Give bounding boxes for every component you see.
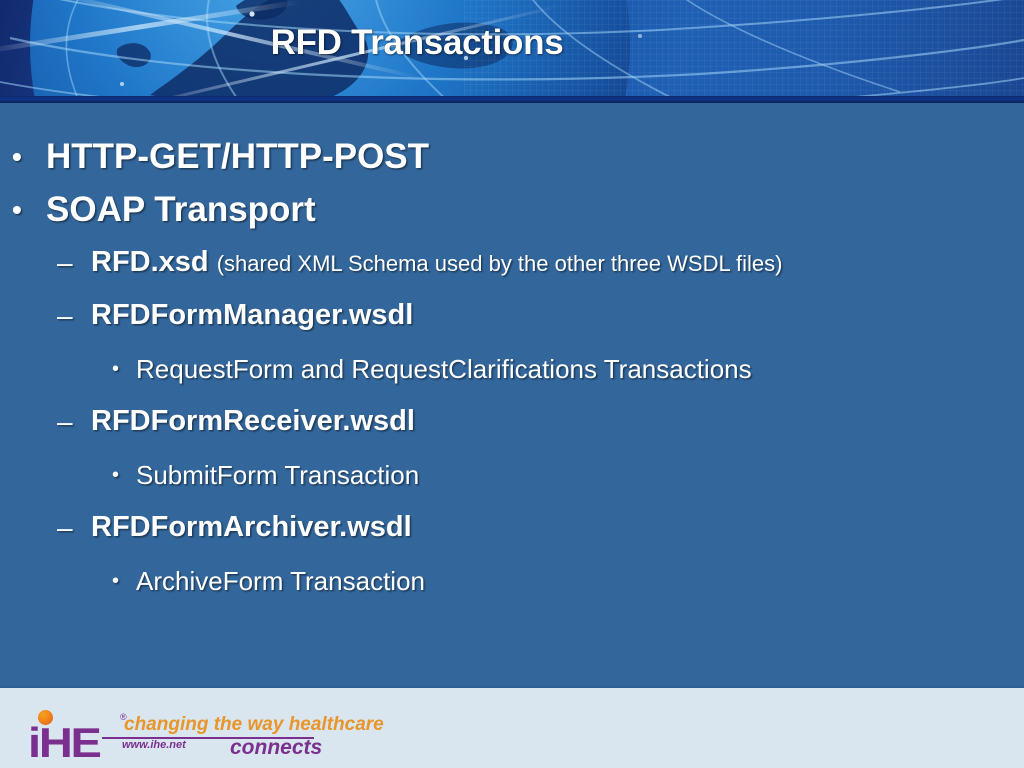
bullet-item-level1: • SOAP Transport — [0, 186, 1024, 239]
bullet-list: • HTTP-GET/HTTP-POST • SOAP Transport – … — [0, 133, 1024, 610]
logo-url: www.ihe.net — [122, 739, 186, 751]
tagline-line2: connects — [230, 736, 322, 760]
bullet-marker-dash: – — [57, 398, 73, 445]
bullet-item-level1: • HTTP-GET/HTTP-POST — [0, 133, 1024, 186]
bullet-marker-dot: • — [112, 451, 119, 499]
bullet-item-level3: • RequestForm and RequestClarifications … — [0, 345, 1024, 398]
bullet-text: SubmitForm Transaction — [136, 460, 419, 490]
ihe-wordmark-group: iHE — [28, 710, 116, 754]
ihe-logo: iHE ® changing the way healthcare www.ih… — [24, 696, 324, 758]
bullet-text: RFDFormArchiver.wsdl — [91, 511, 412, 543]
bullet-marker-dot: • — [112, 345, 119, 393]
bullet-marker-dot: • — [12, 186, 22, 234]
ihe-wordmark: iHE — [28, 722, 100, 764]
bullet-text: ArchiveForm Transaction — [136, 566, 425, 596]
bullet-text: RequestForm and RequestClarifications Tr… — [136, 354, 752, 384]
bullet-text: RFDFormManager.wsdl — [91, 299, 413, 331]
bullet-note: (shared XML Schema used by the other thr… — [217, 251, 783, 276]
bullet-item-level2: – RFDFormReceiver.wsdl — [0, 398, 1024, 451]
header-divider — [0, 96, 1024, 103]
presentation-slide: RFD Transactions • HTTP-GET/HTTP-POST • … — [0, 0, 1024, 768]
page-title: RFD Transactions — [0, 23, 1024, 63]
bullet-item-level3: • ArchiveForm Transaction — [0, 557, 1024, 610]
bullet-marker-dot: • — [112, 557, 119, 605]
bullet-item-level3: • SubmitForm Transaction — [0, 451, 1024, 504]
bullet-marker-dash: – — [57, 292, 73, 339]
bullet-item-level2: – RFD.xsd (shared XML Schema used by the… — [0, 239, 1024, 292]
tagline-line1: changing the way healthcare — [124, 714, 384, 736]
bullet-marker-dot: • — [12, 133, 22, 181]
bullet-item-level2: – RFDFormManager.wsdl — [0, 292, 1024, 345]
slide-footer: iHE ® changing the way healthcare www.ih… — [0, 686, 1024, 768]
bullet-text: RFDFormReceiver.wsdl — [91, 405, 415, 437]
bullet-text: SOAP Transport — [46, 190, 316, 229]
slide-header: RFD Transactions — [0, 0, 1024, 103]
bullet-text: HTTP-GET/HTTP-POST — [46, 137, 429, 176]
slide-body: • HTTP-GET/HTTP-POST • SOAP Transport – … — [0, 103, 1024, 686]
bullet-marker-dash: – — [57, 504, 73, 551]
bullet-item-level2: – RFDFormArchiver.wsdl — [0, 504, 1024, 557]
bullet-marker-dash: – — [57, 239, 73, 286]
bullet-text: RFD.xsd — [91, 246, 209, 278]
